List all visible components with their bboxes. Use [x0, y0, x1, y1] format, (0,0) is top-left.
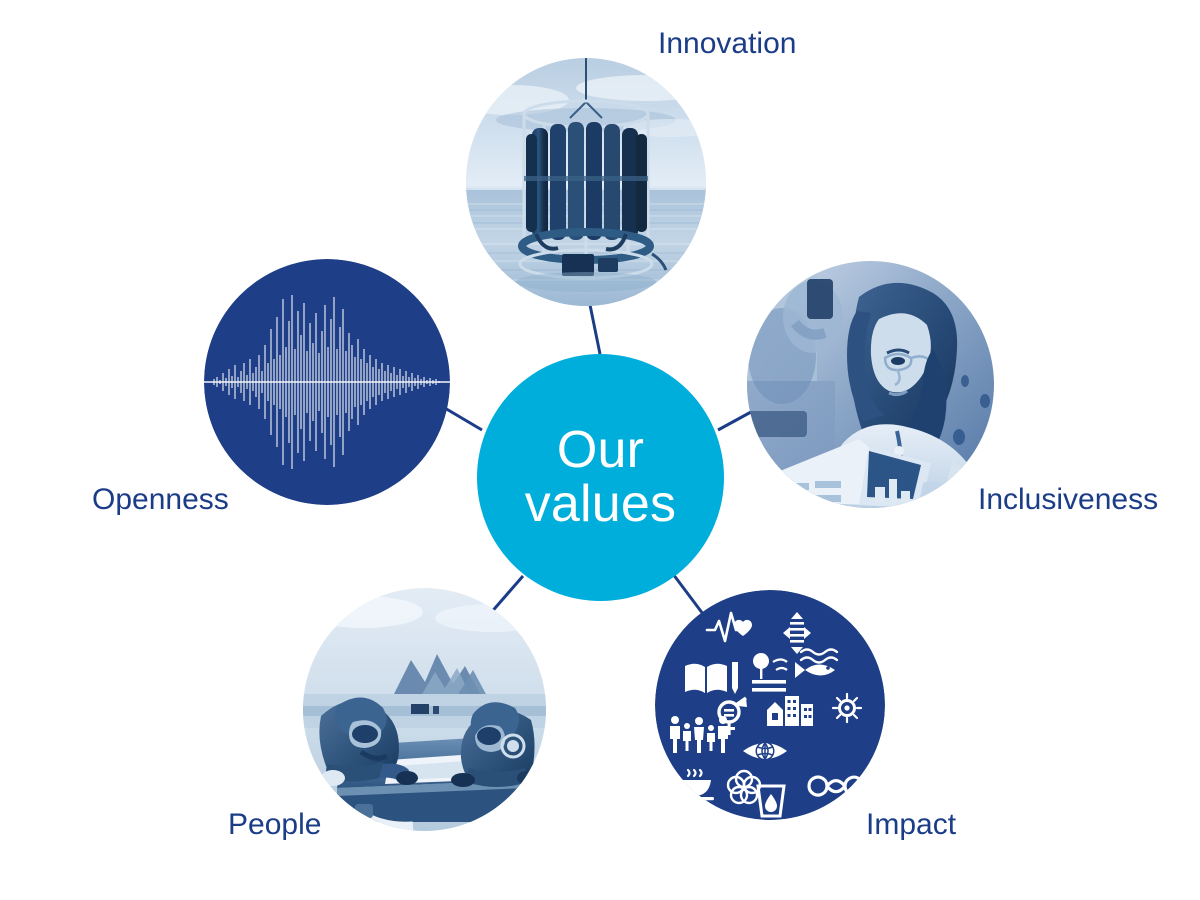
values-diagram: Our values Innovation Inclusiveness Impa… — [0, 0, 1200, 900]
label-inclusiveness: Inclusiveness — [978, 483, 1158, 517]
label-innovation: Innovation — [658, 27, 796, 61]
node-openness[interactable] — [204, 259, 450, 505]
connector-hub-innovation — [589, 300, 600, 354]
hub-label: Our values — [525, 424, 677, 530]
seismograph-waveform-graphic — [204, 259, 450, 505]
connector-hub-impact — [673, 574, 703, 614]
center-hub[interactable]: Our values — [477, 354, 724, 601]
label-people: People — [228, 808, 321, 842]
sun-energy-icon — [833, 694, 861, 722]
sdg-icon-cluster — [655, 590, 885, 820]
researcher-reading-photo — [747, 261, 994, 508]
ctd-rosette-photo — [466, 58, 706, 306]
polar-fieldwork-photo — [303, 588, 546, 831]
label-impact: Impact — [866, 808, 956, 842]
label-openness: Openness — [92, 483, 229, 517]
node-innovation[interactable] — [466, 58, 706, 306]
node-people[interactable] — [303, 588, 546, 831]
node-inclusiveness[interactable] — [747, 261, 994, 508]
node-impact[interactable] — [655, 590, 885, 820]
